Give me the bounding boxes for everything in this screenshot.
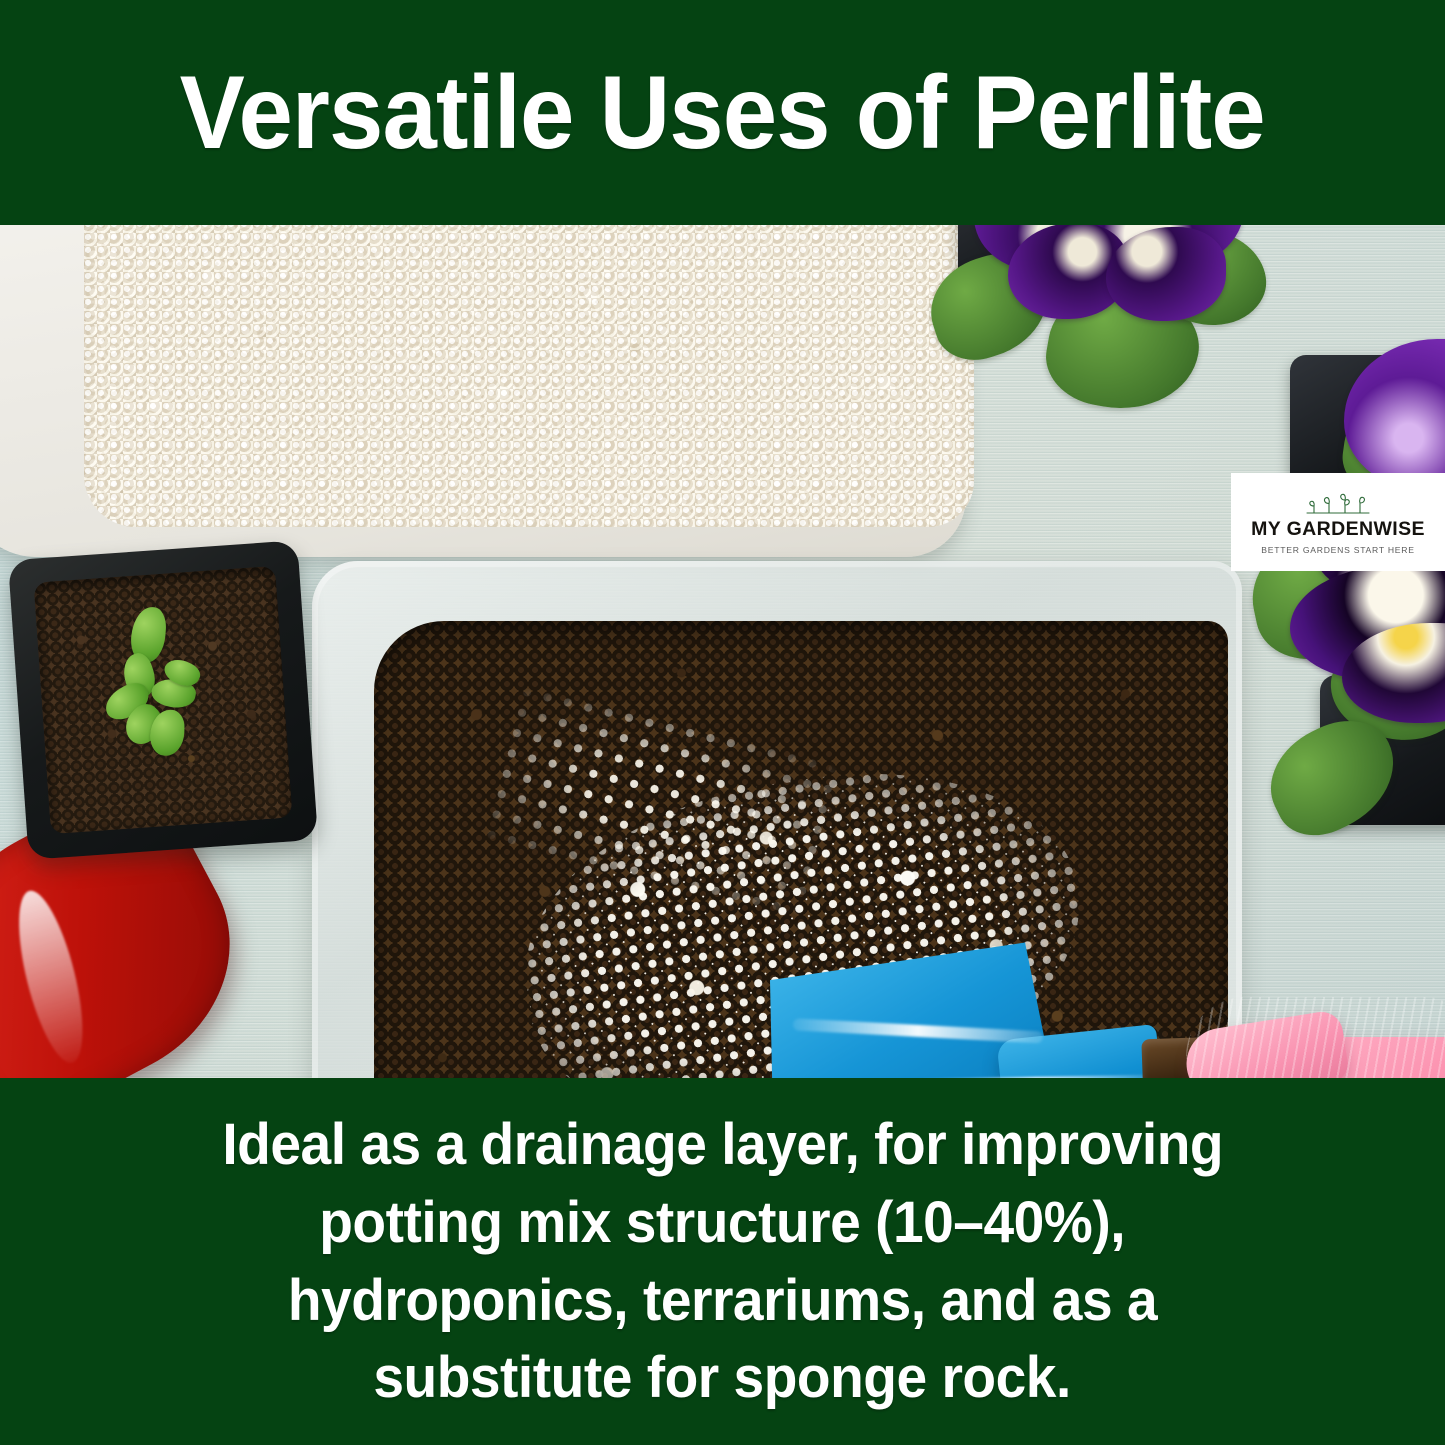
- caption-band: Ideal as a drainage layer, for improving…: [0, 1078, 1445, 1445]
- pansy-flower: [1324, 299, 1445, 479]
- logo-tagline: BETTER GARDENS START HERE: [1261, 545, 1414, 555]
- glove-finger: [1181, 1009, 1350, 1078]
- pansy-cluster-right: [1238, 355, 1445, 855]
- brand-logo[interactable]: MY GARDENWISE BETTER GARDENS START HERE: [1231, 473, 1445, 571]
- caption-line-3: hydroponics, terrariums, and as a: [288, 1262, 1157, 1340]
- perlite-granules: [84, 225, 974, 527]
- three-sprouts-icon: [1305, 493, 1371, 517]
- page-title: Versatile Uses of Perlite: [180, 61, 1265, 165]
- perlite-tray: [0, 225, 966, 557]
- seedling-plant: [98, 602, 229, 770]
- caption-line-4: substitute for sponge rock.: [374, 1339, 1071, 1417]
- perlite-infographic: Versatile Uses of Perlite: [0, 0, 1445, 1445]
- seedling-pot: [8, 540, 318, 859]
- logo-wordmark: MY GARDENWISE: [1251, 520, 1425, 540]
- caption-line-1: Ideal as a drainage layer, for improving: [222, 1106, 1223, 1184]
- pansy-cluster-top: [940, 225, 1270, 445]
- pansy-petal: [1344, 339, 1445, 489]
- perlite-scatter-secondary: [478, 680, 839, 925]
- pansy-flower: [974, 225, 1244, 331]
- pink-glove: [1186, 997, 1445, 1078]
- gardening-photo: MY GARDENWISE BETTER GARDENS START HERE: [0, 225, 1445, 1078]
- title-band: Versatile Uses of Perlite: [0, 0, 1445, 225]
- caption-line-2: potting mix structure (10–40%),: [320, 1184, 1126, 1262]
